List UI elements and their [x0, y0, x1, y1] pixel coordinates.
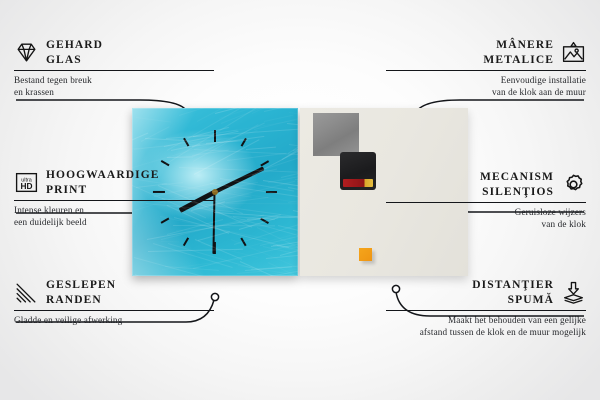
feature-body-line2: van de klok — [386, 219, 586, 231]
foam-spacer-part — [359, 248, 372, 261]
feature-body-line1: Maakt het behouden van een gelijke — [386, 315, 586, 327]
feature-title-line1: GEHARD — [46, 38, 103, 53]
feature-divider — [386, 70, 586, 71]
feature-divider — [14, 310, 214, 311]
feature-titles: GEHARD GLAS — [46, 38, 103, 67]
feature-body: Eenvoudige installatie van de klok aan d… — [386, 75, 586, 98]
feature-titles: HOOGWAARDIGE PRINT — [46, 168, 160, 197]
feature-geslepen-randen: GESLEPEN RANDEN Gladde en veilige afwerk… — [14, 278, 214, 327]
feature-header: MECANISM SILENŢIOS — [386, 170, 586, 199]
feature-title-line1: HOOGWAARDIGE — [46, 168, 160, 183]
feature-header: MÂNERE METALICE — [386, 38, 586, 67]
feature-body-line1: Geruisloze wijzers — [386, 207, 586, 219]
feature-manere-metalice: MÂNERE METALICE Eenvoudige installatie v… — [386, 38, 586, 99]
feature-header: DISTANŢIER SPUMĂ — [386, 278, 586, 307]
feature-body: Bestand tegen breuk en krassen — [14, 75, 214, 98]
feature-titles: MÂNERE METALICE — [483, 38, 554, 67]
feature-title-line1: GESLEPEN — [46, 278, 116, 293]
svg-text:HD: HD — [20, 181, 32, 191]
feature-body: Intense kleuren en een duidelijk beeld — [14, 205, 214, 228]
feature-body-line1: Bestand tegen breuk — [14, 75, 214, 87]
beveled-edge-icon — [14, 280, 39, 305]
feature-distantier-spuma: DISTANŢIER SPUMĂ Maakt het behouden van … — [386, 278, 586, 339]
hour-tick — [183, 237, 189, 246]
feature-body: Gladde en veilige afwerking — [14, 315, 214, 327]
feature-body-line2: een duidelijk beeld — [14, 217, 214, 229]
feature-header: GEHARD GLAS — [14, 38, 214, 67]
feature-title-line2: METALICE — [483, 53, 554, 68]
feature-title-line2: GLAS — [46, 53, 103, 68]
feature-divider — [386, 202, 586, 203]
feature-titles: DISTANŢIER SPUMĂ — [472, 278, 554, 307]
spacer-down-arrow-icon — [561, 280, 586, 305]
feature-title-line2: PRINT — [46, 183, 160, 198]
feature-title-line1: MECANISM — [480, 170, 554, 185]
gear-icon — [561, 172, 586, 197]
feature-divider — [14, 70, 214, 71]
feature-body-line2: afstand tussen de klok en de muur mogeli… — [386, 327, 586, 339]
feature-titles: GESLEPEN RANDEN — [46, 278, 116, 307]
feature-title-line1: DISTANŢIER — [472, 278, 554, 293]
feature-body: Maakt het behouden van een gelijke afsta… — [386, 315, 586, 338]
picture-hanger-icon — [561, 40, 586, 65]
feature-body: Geruisloze wijzers van de klok — [386, 207, 586, 230]
metal-hanger-icon-part — [313, 113, 359, 156]
feature-hoogwaardige-print: ultra HD HOOGWAARDIGE PRINT Intense kleu… — [14, 168, 214, 229]
battery-part — [343, 179, 373, 187]
infographic-canvas: GEHARD GLAS Bestand tegen breuk en krass… — [0, 0, 600, 400]
feature-title-line1: MÂNERE — [496, 38, 554, 53]
feature-titles: MECANISM SILENŢIOS — [480, 170, 554, 199]
feature-gehard-glas: GEHARD GLAS Bestand tegen breuk en krass… — [14, 38, 214, 99]
feather-streak — [161, 241, 179, 242]
feature-body-line1: Intense kleuren en — [14, 205, 214, 217]
ultra-hd-icon: ultra HD — [14, 170, 39, 195]
feature-body-line1: Gladde en veilige afwerking — [14, 315, 214, 327]
diamond-icon — [14, 40, 39, 65]
feature-title-line2: SILENŢIOS — [482, 185, 554, 200]
quartz-mechanism-part — [340, 152, 376, 190]
feature-body-line2: en krassen — [14, 87, 214, 99]
feature-mecanism-silentios: MECANISM SILENŢIOS Geruisloze wijzers va… — [386, 170, 586, 231]
feature-title-line2: SPUMĂ — [508, 293, 554, 308]
feature-title-line2: RANDEN — [46, 293, 116, 308]
feature-header: ultra HD HOOGWAARDIGE PRINT — [14, 168, 214, 197]
feature-header: GESLEPEN RANDEN — [14, 278, 214, 307]
feature-divider — [14, 200, 214, 201]
feature-body-line2: van de klok aan de muur — [386, 87, 586, 99]
feature-divider — [386, 310, 586, 311]
feature-body-line1: Eenvoudige installatie — [386, 75, 586, 87]
